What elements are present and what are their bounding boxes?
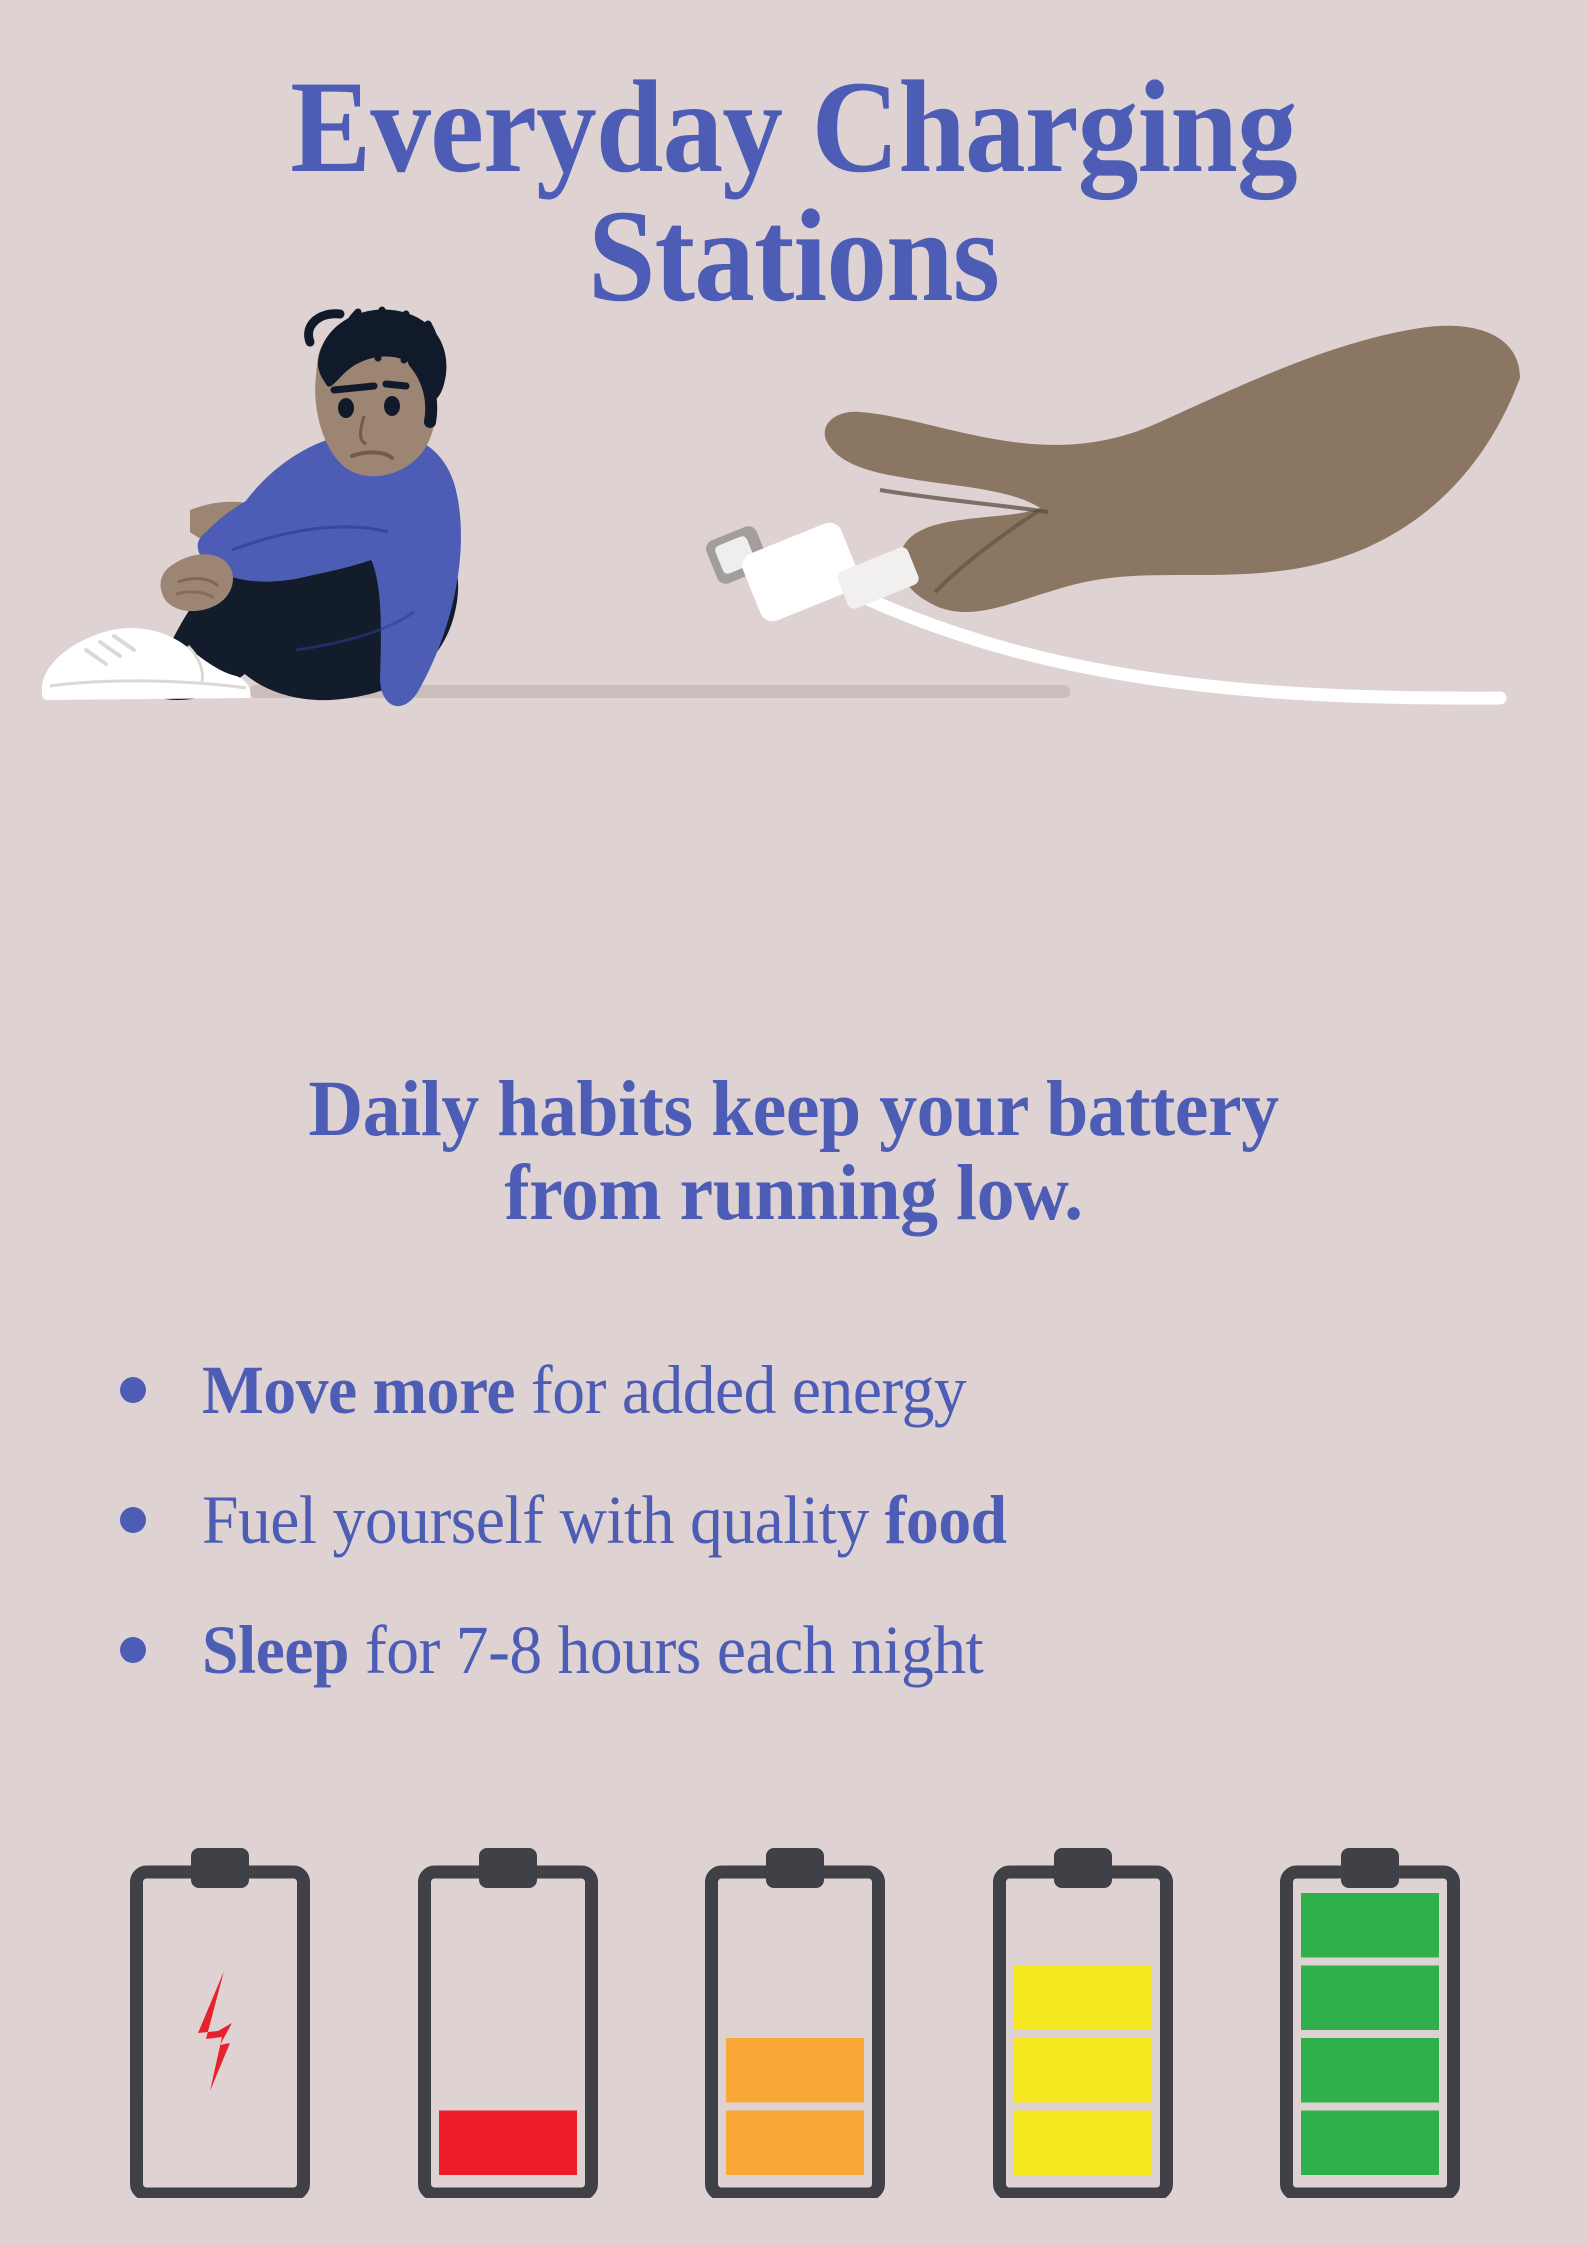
page-title: Everyday Charging Stations — [63, 62, 1523, 321]
battery-bar — [1014, 2111, 1152, 2176]
list-item-text: Move more for added energy — [202, 1356, 1416, 1425]
battery-bar — [1301, 1893, 1439, 1958]
habit-list: Move more for added energy Fuel yourself… — [120, 1325, 1480, 1715]
list-item-regular: for added energy — [515, 1352, 966, 1428]
list-item: Fuel yourself with quality food — [120, 1455, 1480, 1585]
lightning-bolt-icon — [198, 1971, 232, 2091]
battery-icon-empty-charging — [130, 1848, 310, 2198]
page-title-line-1: Everyday Charging — [63, 62, 1523, 191]
hero-illustration — [0, 300, 1587, 1010]
subtitle-line-2: from running low. — [80, 1152, 1508, 1236]
list-item-bold: Sleep — [202, 1612, 349, 1688]
hand-shape — [825, 326, 1520, 612]
charging-cable-shape — [870, 600, 1500, 698]
list-item-text: Sleep for 7-8 hours each night — [202, 1616, 1416, 1685]
list-item-bold: food — [885, 1482, 1007, 1558]
poster-canvas: Everyday Charging Stations — [0, 0, 1587, 2245]
battery-bar — [1014, 2038, 1152, 2103]
battery-icon-medium — [993, 1848, 1173, 2198]
list-item: Move more for added energy — [120, 1325, 1480, 1455]
battery-icon-very-low — [418, 1848, 598, 2198]
battery-bar — [726, 2038, 864, 2103]
subtitle-line-1: Daily habits keep your battery — [80, 1068, 1508, 1152]
subtitle: Daily habits keep your battery from runn… — [80, 1068, 1508, 1235]
battery-bar — [1301, 2038, 1439, 2103]
bullet-dot-icon — [120, 1377, 146, 1403]
battery-bar — [726, 2111, 864, 2176]
battery-bar — [439, 2111, 577, 2176]
battery-icon-full — [1280, 1848, 1460, 2198]
seated-person-shape — [42, 310, 461, 707]
battery-bar — [1301, 2111, 1439, 2176]
bullet-dot-icon — [120, 1637, 146, 1663]
list-item: Sleep for 7-8 hours each night — [120, 1585, 1480, 1715]
battery-bar — [1301, 1966, 1439, 2031]
battery-bar — [1014, 1966, 1152, 2031]
battery-level-row — [130, 1848, 1460, 2208]
battery-icon-low — [705, 1848, 885, 2198]
list-item-bold: Move more — [202, 1352, 515, 1428]
list-item-regular: Fuel yourself with quality — [202, 1482, 885, 1558]
list-item-regular: for 7-8 hours each night — [349, 1612, 983, 1688]
list-item-text: Fuel yourself with quality food — [202, 1486, 1416, 1555]
bullet-dot-icon — [120, 1507, 146, 1533]
